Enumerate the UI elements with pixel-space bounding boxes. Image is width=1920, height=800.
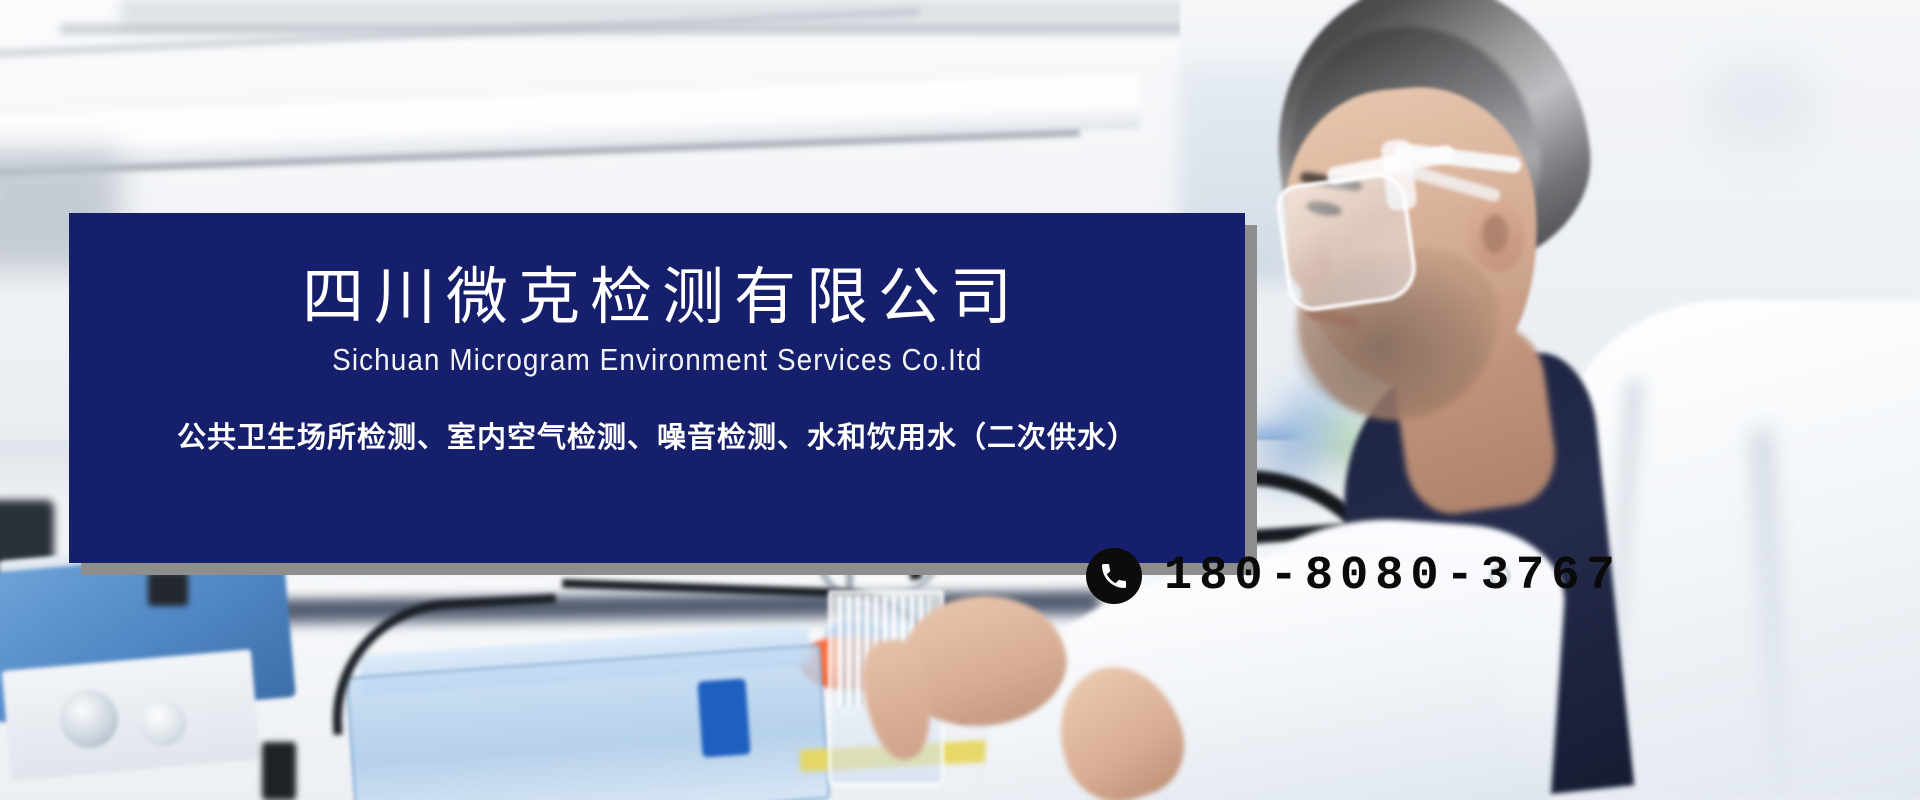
black-fixture-mid bbox=[148, 572, 188, 606]
hotplate-control-panel bbox=[2, 649, 261, 780]
hero-banner: 四川微克检测有限公司 Sichuan Microgram Environment… bbox=[0, 0, 1920, 800]
phone-handset-icon[interactable] bbox=[1086, 548, 1142, 604]
safety-goggles-lens bbox=[1274, 170, 1421, 315]
window-glow bbox=[1700, 60, 1820, 150]
ear-inner bbox=[1482, 214, 1508, 254]
phone-number[interactable]: 180-8080-3767 bbox=[1164, 553, 1622, 600]
hotplate-knob-small bbox=[140, 700, 186, 746]
contact-phone[interactable]: 180-8080-3767 bbox=[1086, 548, 1622, 604]
title-panel: 四川微克检测有限公司 Sichuan Microgram Environment… bbox=[69, 213, 1245, 563]
company-name-cn: 四川微克检测有限公司 bbox=[292, 265, 1022, 331]
services-list: 公共卫生场所检测、室内空气检测、噪音检测、水和饮用水（二次供水） bbox=[177, 421, 1137, 456]
hotplate-knob-large bbox=[60, 690, 118, 748]
company-name-en: Sichuan Microgram Environment Services C… bbox=[332, 343, 982, 377]
black-fixture-bottom bbox=[262, 742, 296, 800]
